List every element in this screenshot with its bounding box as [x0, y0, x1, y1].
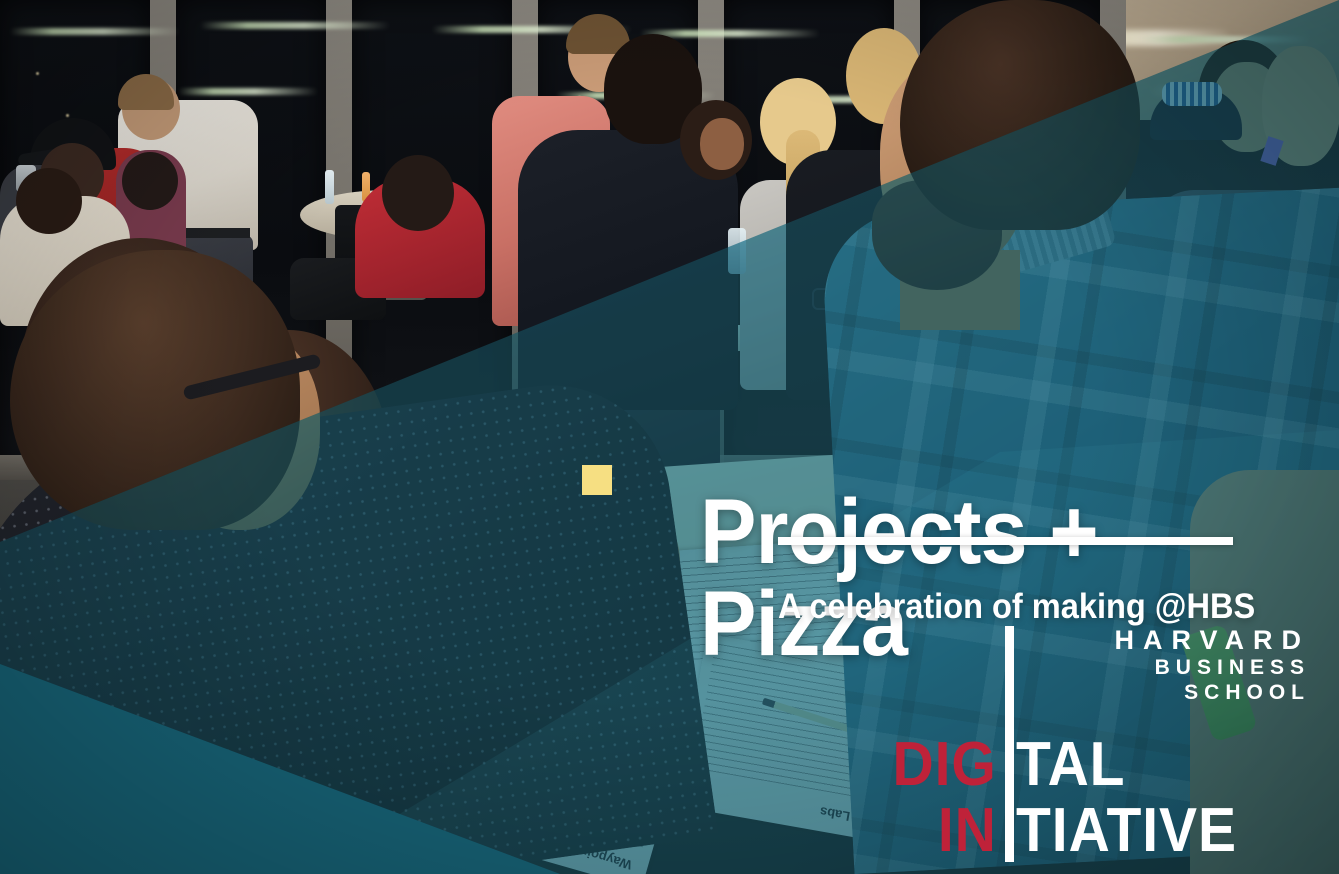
yellow-square-accent — [582, 465, 612, 495]
dig-text: DIG — [872, 738, 1005, 793]
tal-text: TAL — [1005, 738, 1125, 793]
poster-content: Projects + Pizza A celebration of making… — [0, 0, 1339, 874]
title-underline-rule — [778, 537, 1233, 545]
event-poster: Waypoint Labs Waypoint Labs Waypoint Lab… — [0, 0, 1339, 874]
digital-row: DIG TAL — [860, 738, 1136, 793]
tiative-text: TIATIVE — [1005, 804, 1237, 859]
in-text: IN — [872, 804, 1005, 859]
harvard-business-school-wordmark: HARVARD BUSINESS SCHOOL — [1022, 626, 1310, 706]
digital-initiative-wordmark: DIG TAL IN TIATIVE — [860, 738, 1310, 868]
business-school-line: BUSINESS SCHOOL — [1022, 655, 1310, 705]
harvard-line: HARVARD — [1022, 626, 1310, 655]
initiative-row: IN TIATIVE — [860, 804, 1257, 859]
hbs-digital-initiative-logo: HARVARD BUSINESS SCHOOL DIG TAL IN TIATI… — [860, 622, 1310, 862]
